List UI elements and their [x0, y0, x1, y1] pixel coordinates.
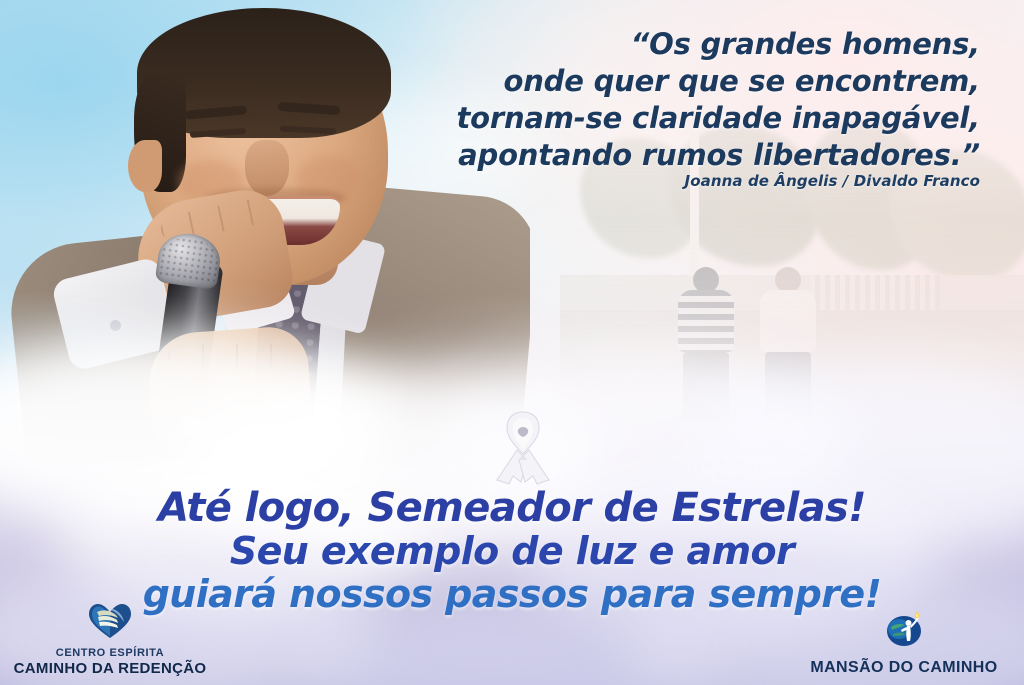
- mourning-ribbon-icon: [487, 406, 559, 486]
- quote-text: “Os grandes homens, onde quer que se enc…: [360, 26, 980, 174]
- logo-left-line-1: CENTRO ESPÍRITA: [12, 647, 208, 660]
- ring: [180, 418, 206, 436]
- headline-block: Até logo, Semeador de Estrelas! Seu exem…: [0, 486, 1024, 616]
- globe-figure-flame-icon: [794, 608, 1014, 655]
- logo-centro-espirita: CENTRO ESPÍRITA CAMINHO DA REDENÇÃO: [12, 603, 208, 677]
- heart-hands-icon: [12, 603, 208, 644]
- quote-line-3: tornam-se claridade inapagável,: [360, 100, 980, 137]
- headline-line-2: Seu exemplo de luz e amor: [0, 530, 1024, 572]
- quote-line-1: “Os grandes homens,: [360, 26, 980, 63]
- logo-mansao-do-caminho: MANSÃO DO CAMINHO: [794, 608, 1014, 677]
- quote-line-2: onde quer que se encontrem,: [360, 63, 980, 100]
- logo-left-line-2: CAMINHO DA REDENÇÃO: [12, 660, 208, 677]
- headline-line-1: Até logo, Semeador de Estrelas!: [0, 486, 1024, 530]
- logo-right-line-1: MANSÃO DO CAMINHO: [794, 658, 1014, 677]
- memorial-poster: “Os grandes homens, onde quer que se enc…: [0, 0, 1024, 685]
- quote-line-4: apontando rumos libertadores.”: [360, 137, 980, 174]
- quote-attribution: Joanna de Ângelis / Divaldo Franco: [360, 172, 980, 190]
